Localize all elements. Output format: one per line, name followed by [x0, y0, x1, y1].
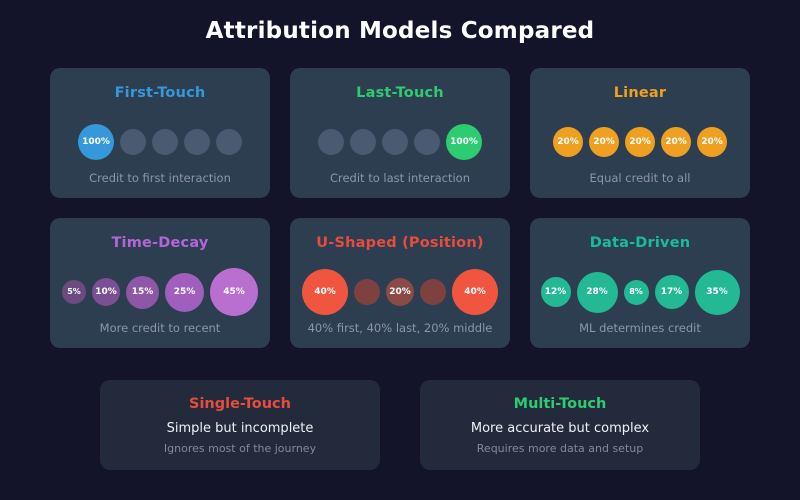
touchpoint-bubble[interactable]: 8% [624, 280, 649, 305]
touchpoint-bubble-row: 100% [50, 114, 270, 170]
touchpoint-bubble[interactable] [354, 279, 380, 305]
touchpoint-bubble[interactable] [152, 129, 178, 155]
touchpoint-bubble[interactable]: 5% [62, 280, 86, 304]
touchpoint-bubble[interactable] [120, 129, 146, 155]
touchpoint-bubble[interactable] [414, 129, 440, 155]
touchpoint-bubble[interactable]: 20% [386, 278, 414, 306]
touchpoint-bubble[interactable] [216, 129, 242, 155]
model-caption: Credit to last interaction [290, 171, 510, 185]
touchpoint-bubble-row: 12%28%8%17%35% [530, 264, 750, 320]
summary-title: Multi-Touch [514, 396, 607, 412]
touchpoint-bubble[interactable]: 20% [697, 127, 727, 157]
page-title: Attribution Models Compared [0, 18, 800, 44]
model-card[interactable]: First-Touch100%Credit to first interacti… [50, 68, 270, 198]
touchpoint-bubble[interactable]: 10% [92, 278, 120, 306]
touchpoint-bubble[interactable]: 100% [78, 124, 114, 160]
summary-card[interactable]: Multi-TouchMore accurate but complexRequ… [420, 380, 700, 470]
summary-main-text: Simple but incomplete [167, 421, 314, 436]
summary-row: Single-TouchSimple but incompleteIgnores… [100, 380, 700, 470]
model-caption: Equal credit to all [530, 171, 750, 185]
summary-title: Single-Touch [189, 396, 291, 412]
touchpoint-bubble-row: 100% [290, 114, 510, 170]
model-title: Linear [614, 85, 667, 101]
touchpoint-bubble[interactable]: 20% [553, 127, 583, 157]
summary-card[interactable]: Single-TouchSimple but incompleteIgnores… [100, 380, 380, 470]
model-card[interactable]: U-Shaped (Position)40%20%40%40% first, 4… [290, 218, 510, 348]
touchpoint-bubble[interactable]: 12% [541, 277, 571, 307]
touchpoint-bubble[interactable]: 17% [655, 275, 689, 309]
touchpoint-bubble[interactable] [382, 129, 408, 155]
model-title: Time-Decay [111, 235, 208, 251]
model-card[interactable]: Time-Decay5%10%15%25%45%More credit to r… [50, 218, 270, 348]
touchpoint-bubble-row: 40%20%40% [290, 264, 510, 320]
touchpoint-bubble[interactable]: 35% [695, 270, 740, 315]
touchpoint-bubble[interactable] [350, 129, 376, 155]
touchpoint-bubble-row: 5%10%15%25%45% [50, 264, 270, 320]
model-title: Data-Driven [590, 235, 691, 251]
model-title: U-Shaped (Position) [316, 235, 483, 251]
model-caption: More credit to recent [50, 321, 270, 335]
touchpoint-bubble[interactable]: 100% [446, 124, 482, 160]
model-card[interactable]: Data-Driven12%28%8%17%35%ML determines c… [530, 218, 750, 348]
summary-main-text: More accurate but complex [471, 421, 649, 436]
model-caption: 40% first, 40% last, 20% middle [290, 321, 510, 335]
attribution-model-grid: First-Touch100%Credit to first interacti… [50, 68, 750, 348]
summary-sub-text: Requires more data and setup [477, 442, 643, 455]
touchpoint-bubble[interactable]: 20% [625, 127, 655, 157]
touchpoint-bubble[interactable] [318, 129, 344, 155]
model-card[interactable]: Linear20%20%20%20%20%Equal credit to all [530, 68, 750, 198]
touchpoint-bubble[interactable] [420, 279, 446, 305]
model-caption: ML determines credit [530, 321, 750, 335]
touchpoint-bubble[interactable]: 20% [589, 127, 619, 157]
summary-sub-text: Ignores most of the journey [164, 442, 316, 455]
touchpoint-bubble[interactable]: 40% [452, 269, 498, 315]
touchpoint-bubble[interactable]: 28% [577, 272, 618, 313]
touchpoint-bubble[interactable]: 40% [302, 269, 348, 315]
model-caption: Credit to first interaction [50, 171, 270, 185]
touchpoint-bubble[interactable]: 15% [126, 276, 159, 309]
touchpoint-bubble-row: 20%20%20%20%20% [530, 114, 750, 170]
model-card[interactable]: Last-Touch100%Credit to last interaction [290, 68, 510, 198]
touchpoint-bubble[interactable]: 25% [165, 273, 204, 312]
touchpoint-bubble[interactable] [184, 129, 210, 155]
touchpoint-bubble[interactable]: 20% [661, 127, 691, 157]
model-title: Last-Touch [356, 85, 444, 101]
model-title: First-Touch [115, 85, 206, 101]
touchpoint-bubble[interactable]: 45% [210, 268, 258, 316]
